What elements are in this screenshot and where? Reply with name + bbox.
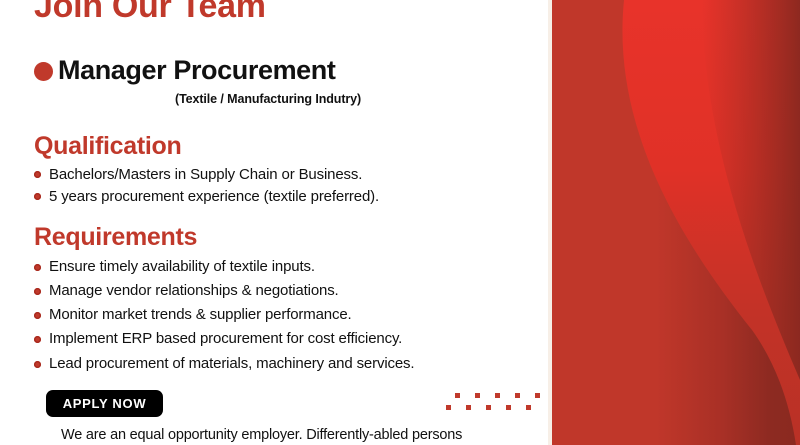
job-title: Manager Procurement bbox=[58, 57, 335, 84]
dot-grid-row-top bbox=[455, 393, 540, 398]
dot-square bbox=[515, 393, 520, 398]
equal-opportunity-note: We are an equal opportunity employer. Di… bbox=[61, 427, 462, 443]
dot-grid-decoration bbox=[455, 393, 540, 410]
page-title: Join Our Team bbox=[34, 0, 266, 25]
job-posting-poster: Join Our Team Manager Procurement (Texti… bbox=[0, 0, 800, 445]
dot-square bbox=[495, 393, 500, 398]
bullet-dot-icon bbox=[34, 193, 41, 200]
dot-square bbox=[506, 405, 511, 410]
job-title-row: Manager Procurement bbox=[34, 57, 335, 84]
list-item-text: 5 years procurement experience (textile … bbox=[49, 186, 379, 207]
list-item: Manage vendor relationships & negotiatio… bbox=[34, 279, 414, 303]
list-item: Lead procurement of materials, machinery… bbox=[34, 352, 414, 376]
dot-square bbox=[455, 393, 460, 398]
list-item: Bachelors/Masters in Supply Chain or Bus… bbox=[34, 164, 379, 185]
bullet-dot-icon bbox=[34, 171, 41, 178]
list-item-text: Implement ERP based procurement for cost… bbox=[49, 327, 402, 351]
list-item: Implement ERP based procurement for cost… bbox=[34, 327, 414, 351]
dot-square bbox=[446, 405, 451, 410]
section-requirements: Requirements Ensure timely availability … bbox=[34, 224, 414, 376]
bullet-dot-icon bbox=[34, 361, 41, 368]
list-item-text: Manage vendor relationships & negotiatio… bbox=[49, 279, 339, 303]
bullet-dot-icon bbox=[34, 312, 41, 319]
section-qualification: Qualification Bachelors/Masters in Suppl… bbox=[34, 133, 379, 207]
job-subtitle: (Textile / Manufacturing Indutry) bbox=[175, 92, 361, 106]
decorative-art-panel bbox=[548, 0, 800, 445]
panel-edge-strip bbox=[548, 0, 552, 445]
dot-square bbox=[466, 405, 471, 410]
dot-square bbox=[486, 405, 491, 410]
apply-now-button[interactable]: APPLY NOW bbox=[46, 390, 163, 417]
list-item: Monitor market trends & supplier perform… bbox=[34, 303, 414, 327]
poster-content: Join Our Team Manager Procurement (Texti… bbox=[0, 0, 548, 445]
list-item-text: Monitor market trends & supplier perform… bbox=[49, 303, 352, 327]
bullet-dot-icon bbox=[34, 288, 41, 295]
qualification-list: Bachelors/Masters in Supply Chain or Bus… bbox=[34, 164, 379, 208]
section-heading-qualification: Qualification bbox=[34, 133, 379, 161]
panel-swoosh-curve bbox=[552, 0, 800, 445]
list-item: Ensure timely availability of textile in… bbox=[34, 255, 414, 279]
dot-square bbox=[535, 393, 540, 398]
job-bullet-icon bbox=[34, 62, 53, 81]
list-item-text: Ensure timely availability of textile in… bbox=[49, 255, 315, 279]
list-item-text: Bachelors/Masters in Supply Chain or Bus… bbox=[49, 164, 362, 185]
list-item-text: Lead procurement of materials, machinery… bbox=[49, 352, 414, 376]
dot-grid-row-bottom bbox=[446, 405, 540, 410]
bullet-dot-icon bbox=[34, 264, 41, 271]
requirements-list: Ensure timely availability of textile in… bbox=[34, 255, 414, 376]
dot-square bbox=[475, 393, 480, 398]
dot-square bbox=[526, 405, 531, 410]
list-item: 5 years procurement experience (textile … bbox=[34, 186, 379, 207]
bullet-dot-icon bbox=[34, 336, 41, 343]
section-heading-requirements: Requirements bbox=[34, 224, 414, 252]
